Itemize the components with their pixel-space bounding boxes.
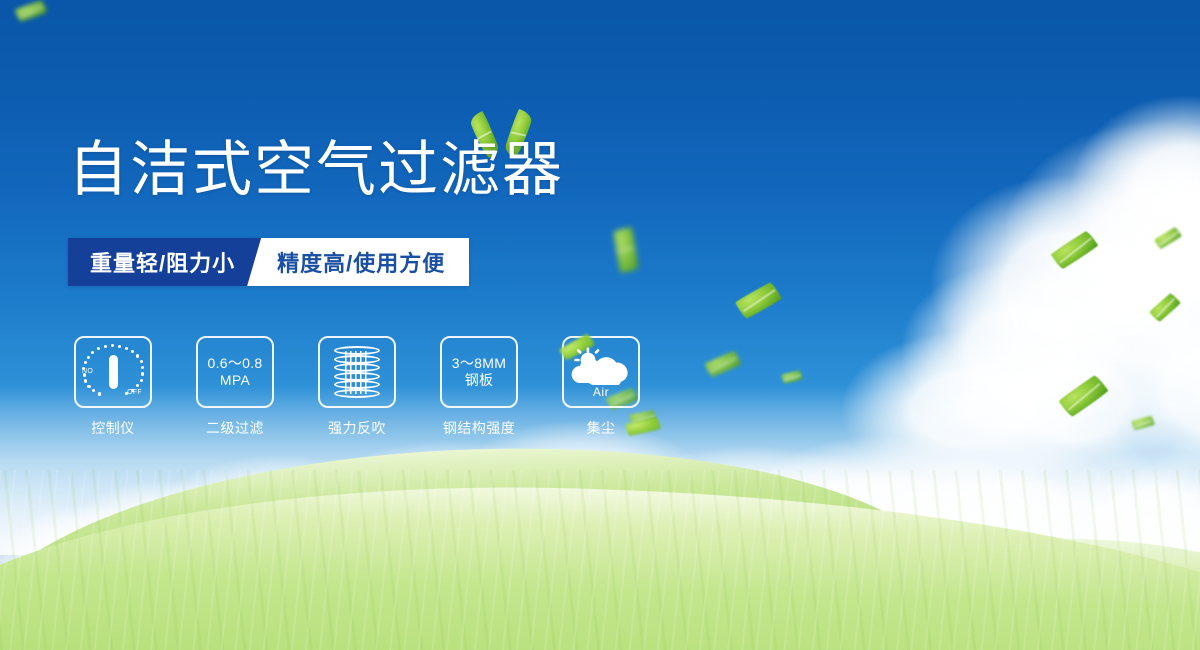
- feature-item-blowback: 强力反吹: [318, 336, 396, 438]
- feature-label: 控制仪: [91, 418, 135, 438]
- feature-icon-row: NO OFF 控制仪 0.6～0.8 MPA 二级过滤: [74, 336, 640, 438]
- feature-label: 二级过滤: [206, 418, 264, 438]
- leaf-icon: [625, 417, 661, 437]
- feature-item-dust: Air 集尘: [562, 336, 640, 438]
- feature-item-pressure: 0.6～0.8 MPA 二级过滤: [196, 336, 274, 438]
- pressure-value-line1: 0.6～0.8: [207, 355, 262, 372]
- feature-item-controller: NO OFF 控制仪: [74, 336, 152, 438]
- feature-icon-box: [318, 336, 396, 408]
- feature-label: 钢结构强度: [443, 418, 516, 438]
- subtitle-segment-right: 精度高/使用方便: [247, 238, 469, 286]
- cloud-air-icon: Air: [571, 347, 631, 397]
- air-icon-text: Air: [571, 385, 631, 399]
- feature-icon-box: NO OFF: [74, 336, 152, 408]
- feature-label: 强力反吹: [328, 418, 386, 438]
- product-banner: 自洁式空气过滤器 重量轻/阻力小 精度高/使用方便: [0, 0, 1200, 650]
- feature-item-steel: 3～8MM 钢板 钢结构强度: [440, 336, 518, 438]
- feature-label: 集尘: [587, 418, 616, 438]
- banner-title: 自洁式空气过滤器: [68, 140, 564, 200]
- gauge-dial-icon: NO OFF: [82, 344, 144, 400]
- banner-subtitle-bar: 重量轻/阻力小 精度高/使用方便: [68, 238, 469, 286]
- steel-value-line2: 钢板: [465, 372, 494, 389]
- gauge-on-label: NO: [82, 368, 93, 375]
- cloud-sun-svg: [571, 347, 631, 389]
- feature-icon-box: 3～8MM 钢板: [440, 336, 518, 408]
- pressure-value-line2: MPA: [220, 372, 250, 389]
- filter-cartridge-icon: [334, 346, 380, 398]
- steel-value-line1: 3～8MM: [452, 355, 506, 372]
- feature-icon-box: 0.6～0.8 MPA: [196, 336, 274, 408]
- subtitle-segment-left: 重量轻/阻力小: [68, 238, 261, 286]
- feature-icon-box: Air: [562, 336, 640, 408]
- banner-content: 自洁式空气过滤器 重量轻/阻力小 精度高/使用方便: [0, 0, 1200, 650]
- gauge-needle: [109, 355, 118, 389]
- gauge-off-label: OFF: [127, 389, 142, 396]
